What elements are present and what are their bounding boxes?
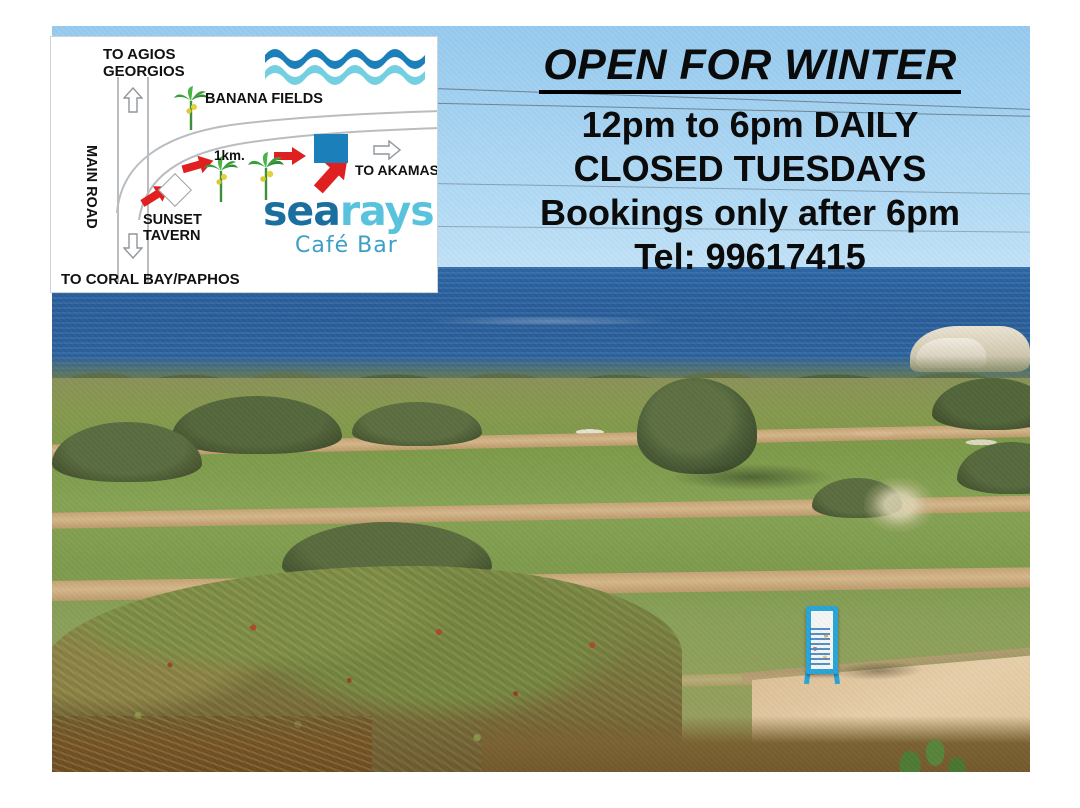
searays-logo-tagline: Café Bar [295,233,398,258]
sea-glint [424,316,678,326]
a-frame-sign [804,606,840,684]
headline-wrap: OPEN FOR WINTER [470,44,1030,94]
poster-canvas: OPEN FOR WINTER 12pm to 6pm DAILY CLOSED… [0,0,1080,808]
notice-line-telephone: Tel: 99617415 [470,235,1030,279]
searays-logo: searays Café Bar [263,187,423,265]
location-marker-icon [314,134,348,163]
location-map: TO AGIOS GEORGIOS BANANA FIELDS 1km. TO … [50,36,438,293]
map-label-agios-georgios: TO AGIOS GEORGIOS [103,47,185,81]
notice-line-bookings: Bookings only after 6pm [470,191,1030,235]
map-label-sunset-line1: SUNSET [143,212,202,228]
dry-branch-texture [52,716,372,772]
searays-logo-wordmark: searays [263,187,434,235]
searays-logo-rays: rays [340,187,434,235]
sign-poster-content [810,628,830,666]
foreground-dry-branches [52,716,372,772]
map-label-to-akamas: TO AKAMAS [355,162,438,178]
map-label-sunset-tavern: SUNSET TAVERN [143,212,202,244]
notice-headline: OPEN FOR WINTER [539,44,961,94]
sign-shadow [828,662,929,680]
map-label-main-road: MAIN ROAD [83,145,99,229]
cactus-plant [892,726,982,772]
map-label-banana-fields: BANANA FIELDS [205,91,323,107]
map-label-agios-line2: GEORGIOS [103,64,185,81]
waves-icon [265,41,425,85]
arrow-right-outline-icon [373,140,401,160]
map-label-sunset-line2: TAVERN [143,228,202,244]
map-label-agios-line1: TO AGIOS [103,47,185,64]
map-label-distance: 1km. [214,148,245,163]
arrow-up-outline-icon [123,87,143,113]
palm-tree-icon [173,85,209,131]
notice-line-closed: CLOSED TUESDAYS [470,147,1030,191]
map-label-coral-bay-paphos: TO CORAL BAY/PAPHOS [61,271,240,288]
searays-logo-sea: sea [263,187,340,235]
notice-line-hours: 12pm to 6pm DAILY [470,103,1030,147]
dry-shrub [864,478,934,532]
tree-shadow [672,464,832,490]
arrow-down-outline-icon [123,233,143,259]
opening-hours-notice: OPEN FOR WINTER 12pm to 6pm DAILY CLOSED… [470,44,1030,279]
